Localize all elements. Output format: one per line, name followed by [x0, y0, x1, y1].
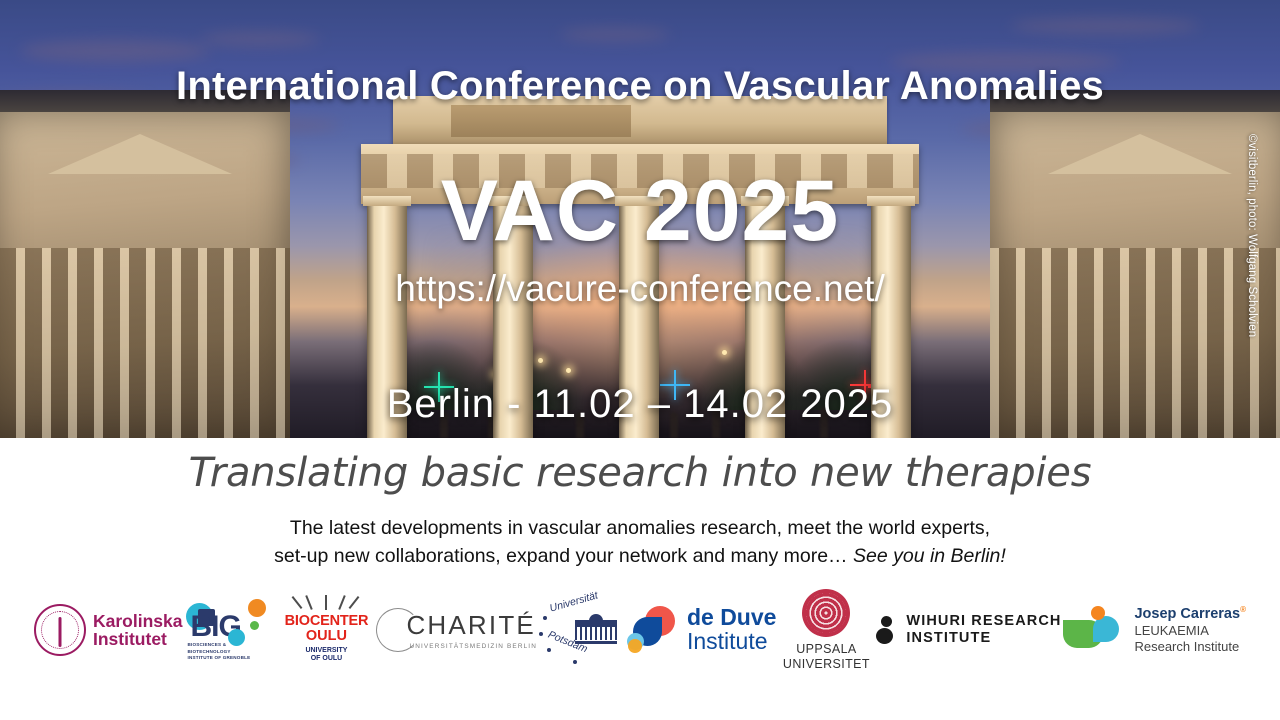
big-circle-orange-icon: [248, 599, 266, 617]
biocenter-line-2: OULU: [278, 629, 374, 644]
blurb-line-1: The latest developments in vascular anom…: [0, 514, 1280, 542]
potsdam-building-icon: [575, 620, 617, 648]
logo-biocenter-oulu[interactable]: BIOCENTER OULU UNIVERSITY OF OULU: [278, 592, 374, 668]
wihuri-mark: WIHURI RESEARCH INSTITUTE: [876, 613, 1061, 647]
wihuri-line-2: INSTITUTE: [906, 630, 1061, 647]
biocenter-subtitle: UNIVERSITY OF OULU: [278, 647, 374, 665]
biocenter-sub-line-2: OF OULU: [278, 655, 374, 664]
big-sub-line-1: BIOSCIENCES &: [187, 642, 250, 649]
uppsala-line-2: UNIVERSITET: [778, 657, 874, 671]
blurb-line-2: set-up new collaborations, expand your n…: [0, 542, 1280, 570]
carreras-leaf-icon: [1063, 606, 1125, 654]
charite-text-block: CHARITÉ UNIVERSITÄTSMEDIZIN BERLIN: [406, 610, 537, 650]
logo-josep-carreras[interactable]: Josep Carreras® LEUKAEMIA Research Insti…: [1063, 592, 1246, 668]
karolinska-line-1: Karolinska: [93, 612, 182, 630]
conference-location-dates: Berlin - 11.02 – 14.02 2025: [0, 382, 1280, 427]
quadriga-relief: [451, 105, 631, 137]
conference-tagline: Translating basic research into new ther…: [0, 450, 1280, 496]
conference-blurb: The latest developments in vascular anom…: [0, 514, 1280, 571]
blurb-line-2-text: set-up new collaborations, expand your n…: [274, 545, 853, 567]
wihuri-wordmark: WIHURI RESEARCH INSTITUTE: [906, 613, 1061, 647]
potsdam-dot-icon: [573, 660, 577, 664]
sponsor-logos: Karolinska Institutet BIG BIOSCIENCES & …: [0, 575, 1280, 685]
potsdam-dot-icon: [543, 616, 547, 620]
carreras-line-2: LEUKAEMIA: [1134, 623, 1246, 639]
logo-de-duve-institute[interactable]: de Duve Institute: [627, 592, 776, 668]
potsdam-dot-icon: [547, 648, 551, 652]
carreras-wordmark: Josep Carreras® LEUKAEMIA Research Insti…: [1134, 605, 1246, 654]
conference-banner: International Conference on Vascular Ano…: [0, 0, 1280, 720]
logo-karolinska-institutet[interactable]: Karolinska Institutet: [34, 592, 182, 668]
conference-url[interactable]: https://vacure-conference.net/: [0, 268, 1280, 310]
karolinska-wordmark: Karolinska Institutet: [93, 612, 182, 648]
karolinska-seal-icon: [34, 604, 86, 656]
potsdam-mark: Universität Potsdam: [539, 594, 625, 666]
big-mark-icon: BIG BIOSCIENCES & BIOTECHNOLOGY INSTITUT…: [184, 597, 276, 663]
karolinska-line-2: Institutet: [93, 630, 182, 648]
big-sub-line-2: BIOTECHNOLOGY: [187, 649, 250, 656]
de-duve-wordmark: de Duve Institute: [687, 606, 776, 654]
uppsala-mark: UPPSALA UNIVERSITET: [778, 589, 874, 671]
de-duve-line-1: de Duve: [687, 606, 776, 630]
uppsala-line-1: UPPSALA: [778, 642, 874, 656]
oulu-rays-icon: [278, 595, 374, 612]
conference-title: International Conference on Vascular Ano…: [0, 64, 1280, 109]
potsdam-dot-icon: [539, 632, 543, 636]
carreras-line-1: Josep Carreras®: [1134, 605, 1246, 623]
cloud: [200, 32, 320, 46]
photo-credit: ©visitberlin, photo: Wolfgang Scholvien: [1246, 134, 1258, 354]
brandenburg-gate-photo: International Conference on Vascular Ano…: [0, 0, 1280, 438]
charite-subtitle: UNIVERSITÄTSMEDIZIN BERLIN: [409, 643, 537, 650]
conference-acronym: VAC 2025: [0, 162, 1280, 261]
carreras-line-3: Research Institute: [1134, 639, 1246, 655]
logo-charite[interactable]: CHARITÉ UNIVERSITÄTSMEDIZIN BERLIN: [376, 592, 537, 668]
josep-carreras-mark: Josep Carreras® LEUKAEMIA Research Insti…: [1063, 605, 1246, 654]
carreras-line-1-text: Josep Carreras: [1134, 606, 1240, 622]
biocenter-line-1: BIOCENTER: [278, 614, 374, 629]
biocenter-sub-line-1: UNIVERSITY: [278, 647, 374, 656]
cloud: [1010, 18, 1200, 34]
big-circle-green-icon: [250, 621, 259, 630]
charite-wordmark: CHARITÉ: [406, 610, 537, 641]
big-subtitle: BIOSCIENCES & BIOTECHNOLOGY INSTITUTE OF…: [187, 642, 250, 662]
cloud: [560, 28, 670, 41]
de-duve-orange-dot-icon: [628, 639, 642, 653]
charite-mark: CHARITÉ UNIVERSITÄTSMEDIZIN BERLIN: [376, 608, 537, 652]
info-panel: Translating basic research into new ther…: [0, 438, 1280, 720]
wihuri-comet-icon: [876, 615, 898, 645]
logo-wihuri-research-institute[interactable]: WIHURI RESEARCH INSTITUTE: [876, 592, 1061, 668]
logo-uppsala-universitet[interactable]: UPPSALA UNIVERSITET: [778, 592, 874, 668]
blurb-emphasis: See you in Berlin!: [853, 545, 1006, 567]
big-sub-line-3: INSTITUTE OF GRENOBLE: [187, 655, 250, 662]
de-duve-line-2: Institute: [687, 630, 776, 654]
potsdam-line-1: Universität: [548, 589, 599, 614]
uppsala-wordmark: UPPSALA UNIVERSITET: [778, 642, 874, 671]
logo-big-grenoble[interactable]: BIG BIOSCIENCES & BIOTECHNOLOGY INSTITUT…: [184, 592, 276, 668]
cloud: [20, 40, 210, 62]
logo-universitat-potsdam[interactable]: Universität Potsdam: [539, 592, 625, 668]
biocenter-oulu-mark: BIOCENTER OULU UNIVERSITY OF OULU: [278, 595, 374, 665]
wihuri-line-1: WIHURI RESEARCH: [906, 613, 1061, 630]
uppsala-seal-icon: [802, 589, 850, 637]
de-duve-mark-icon: [627, 606, 679, 654]
